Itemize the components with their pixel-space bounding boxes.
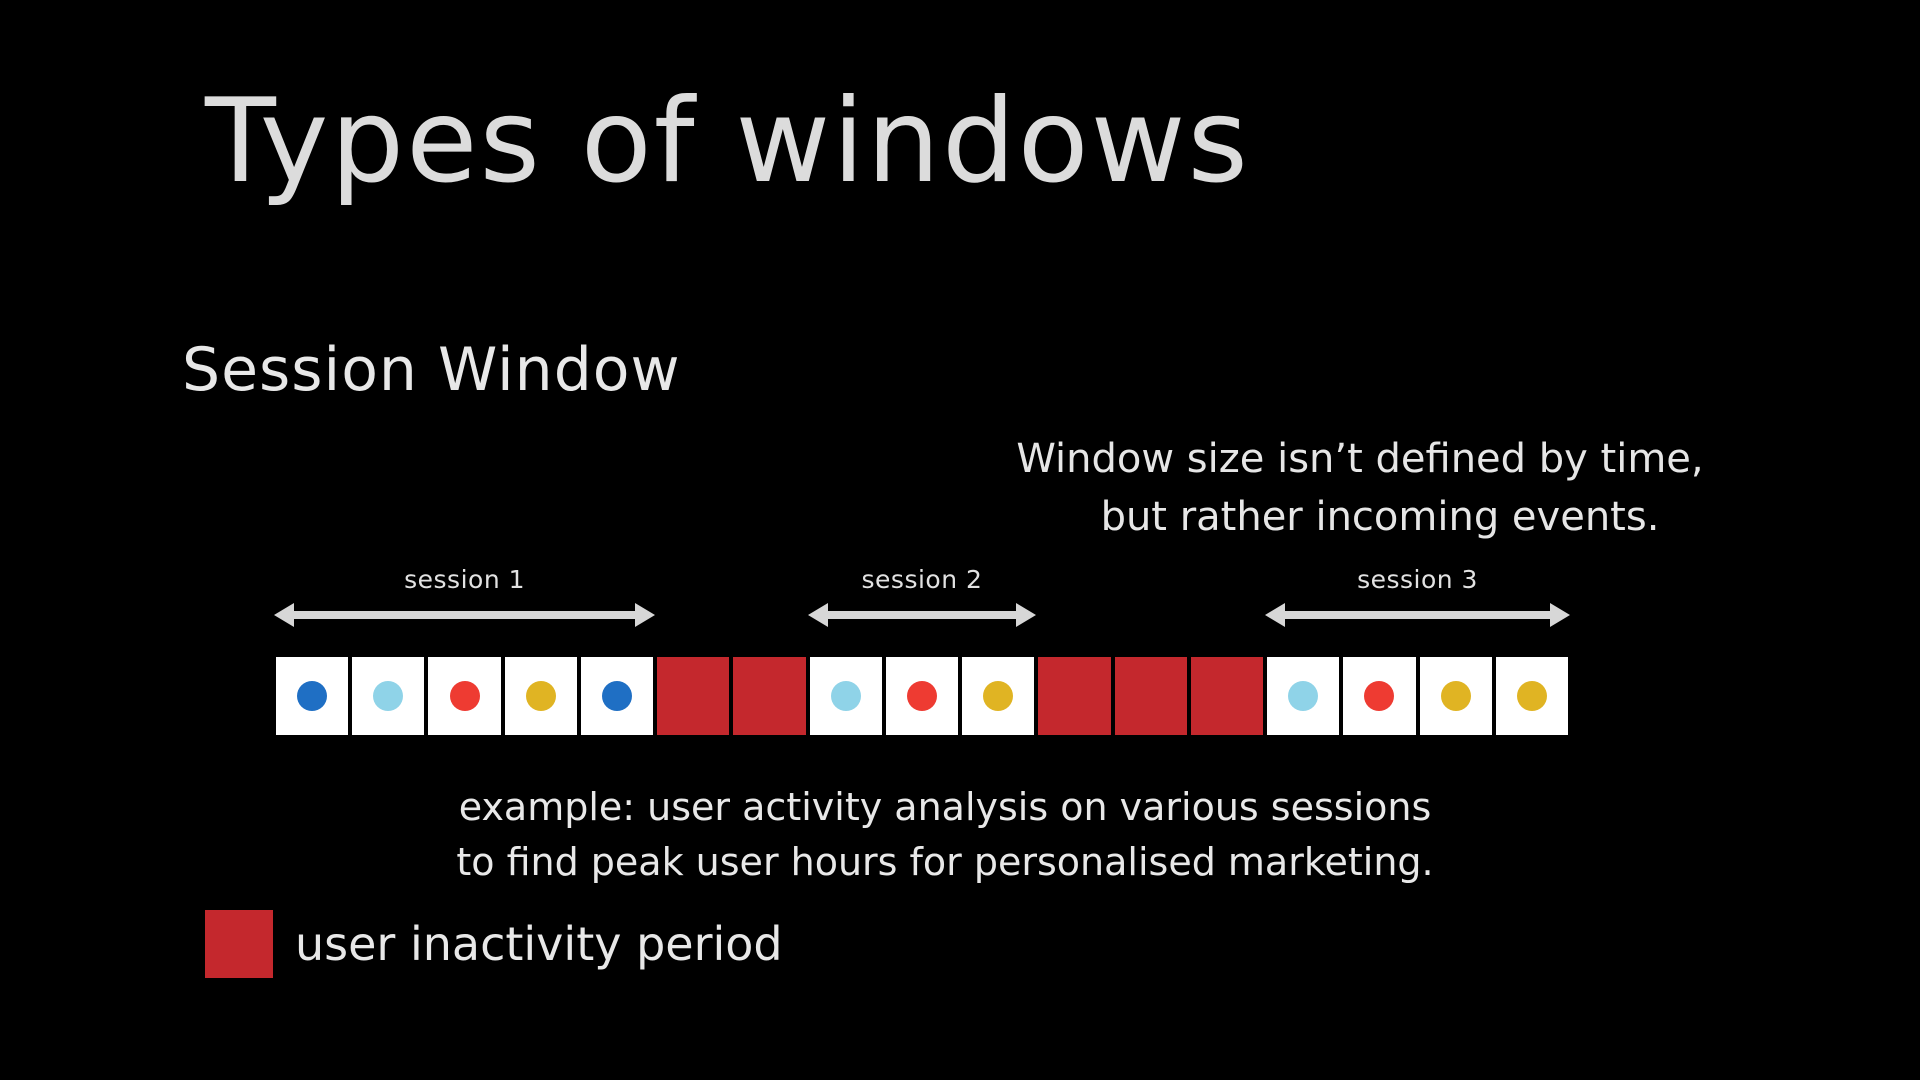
session-span-1: session 1 <box>274 565 655 635</box>
timeline-event-cell <box>1494 655 1570 737</box>
event-dot-red <box>450 681 480 711</box>
session-label-2: session 2 <box>808 565 1037 594</box>
timeline-event-cell <box>274 655 350 737</box>
event-dot-light-blue <box>1288 681 1318 711</box>
caption-line-2: to find peak user hours for personalised… <box>360 835 1530 890</box>
arrow-right-head-icon <box>1550 603 1570 627</box>
arrow-left-head-icon <box>274 603 294 627</box>
timeline-event-cell <box>1341 655 1417 737</box>
timeline-event-cell <box>350 655 426 737</box>
timeline-event-cell <box>808 655 884 737</box>
page-title: Types of windows <box>205 78 1250 206</box>
session-arrow-3 <box>1265 603 1570 627</box>
timeline-inactivity-cell <box>1189 655 1265 737</box>
event-dot-light-blue <box>373 681 403 711</box>
event-dot-red <box>907 681 937 711</box>
arrow-right-head-icon <box>635 603 655 627</box>
arrow-left-head-icon <box>1265 603 1285 627</box>
event-dot-light-blue <box>831 681 861 711</box>
event-timeline <box>274 655 1570 737</box>
inactivity-swatch-icon <box>205 910 273 978</box>
timeline-event-cell <box>1265 655 1341 737</box>
session-span-2: session 2 <box>808 565 1037 635</box>
arrow-line <box>1283 611 1552 619</box>
event-dot-blue <box>297 681 327 711</box>
event-dot-gold <box>1441 681 1471 711</box>
timeline-event-cell <box>426 655 502 737</box>
legend-label: user inactivity period <box>295 917 783 971</box>
event-dot-blue <box>602 681 632 711</box>
slide-subtitle: Session Window <box>182 335 681 405</box>
description-line-1: Window size isn’t defined by time, <box>930 430 1790 488</box>
timeline-event-cell <box>579 655 655 737</box>
session-label-3: session 3 <box>1265 565 1570 594</box>
timeline-inactivity-cell <box>731 655 807 737</box>
arrow-left-head-icon <box>808 603 828 627</box>
session-label-1: session 1 <box>274 565 655 594</box>
event-dot-gold <box>983 681 1013 711</box>
event-dot-red <box>1364 681 1394 711</box>
timeline-event-cell <box>503 655 579 737</box>
session-arrow-2 <box>808 603 1037 627</box>
timeline-event-cell <box>884 655 960 737</box>
arrow-right-head-icon <box>1016 603 1036 627</box>
window-description: Window size isn’t defined by time, but r… <box>930 430 1790 546</box>
arrow-line <box>826 611 1019 619</box>
slide-canvas: Types of windows Session Window Window s… <box>0 0 1920 1080</box>
event-dot-gold <box>526 681 556 711</box>
description-line-2: but rather incoming events. <box>930 488 1790 546</box>
session-arrow-1 <box>274 603 655 627</box>
legend: user inactivity period <box>205 910 783 978</box>
arrow-line <box>292 611 637 619</box>
caption-line-1: example: user activity analysis on vario… <box>360 780 1530 835</box>
session-span-3: session 3 <box>1265 565 1570 635</box>
timeline-event-cell <box>960 655 1036 737</box>
timeline-inactivity-cell <box>655 655 731 737</box>
timeline-inactivity-cell <box>1113 655 1189 737</box>
timeline-event-cell <box>1418 655 1494 737</box>
example-caption: example: user activity analysis on vario… <box>360 780 1530 890</box>
event-dot-gold <box>1517 681 1547 711</box>
timeline-inactivity-cell <box>1036 655 1112 737</box>
